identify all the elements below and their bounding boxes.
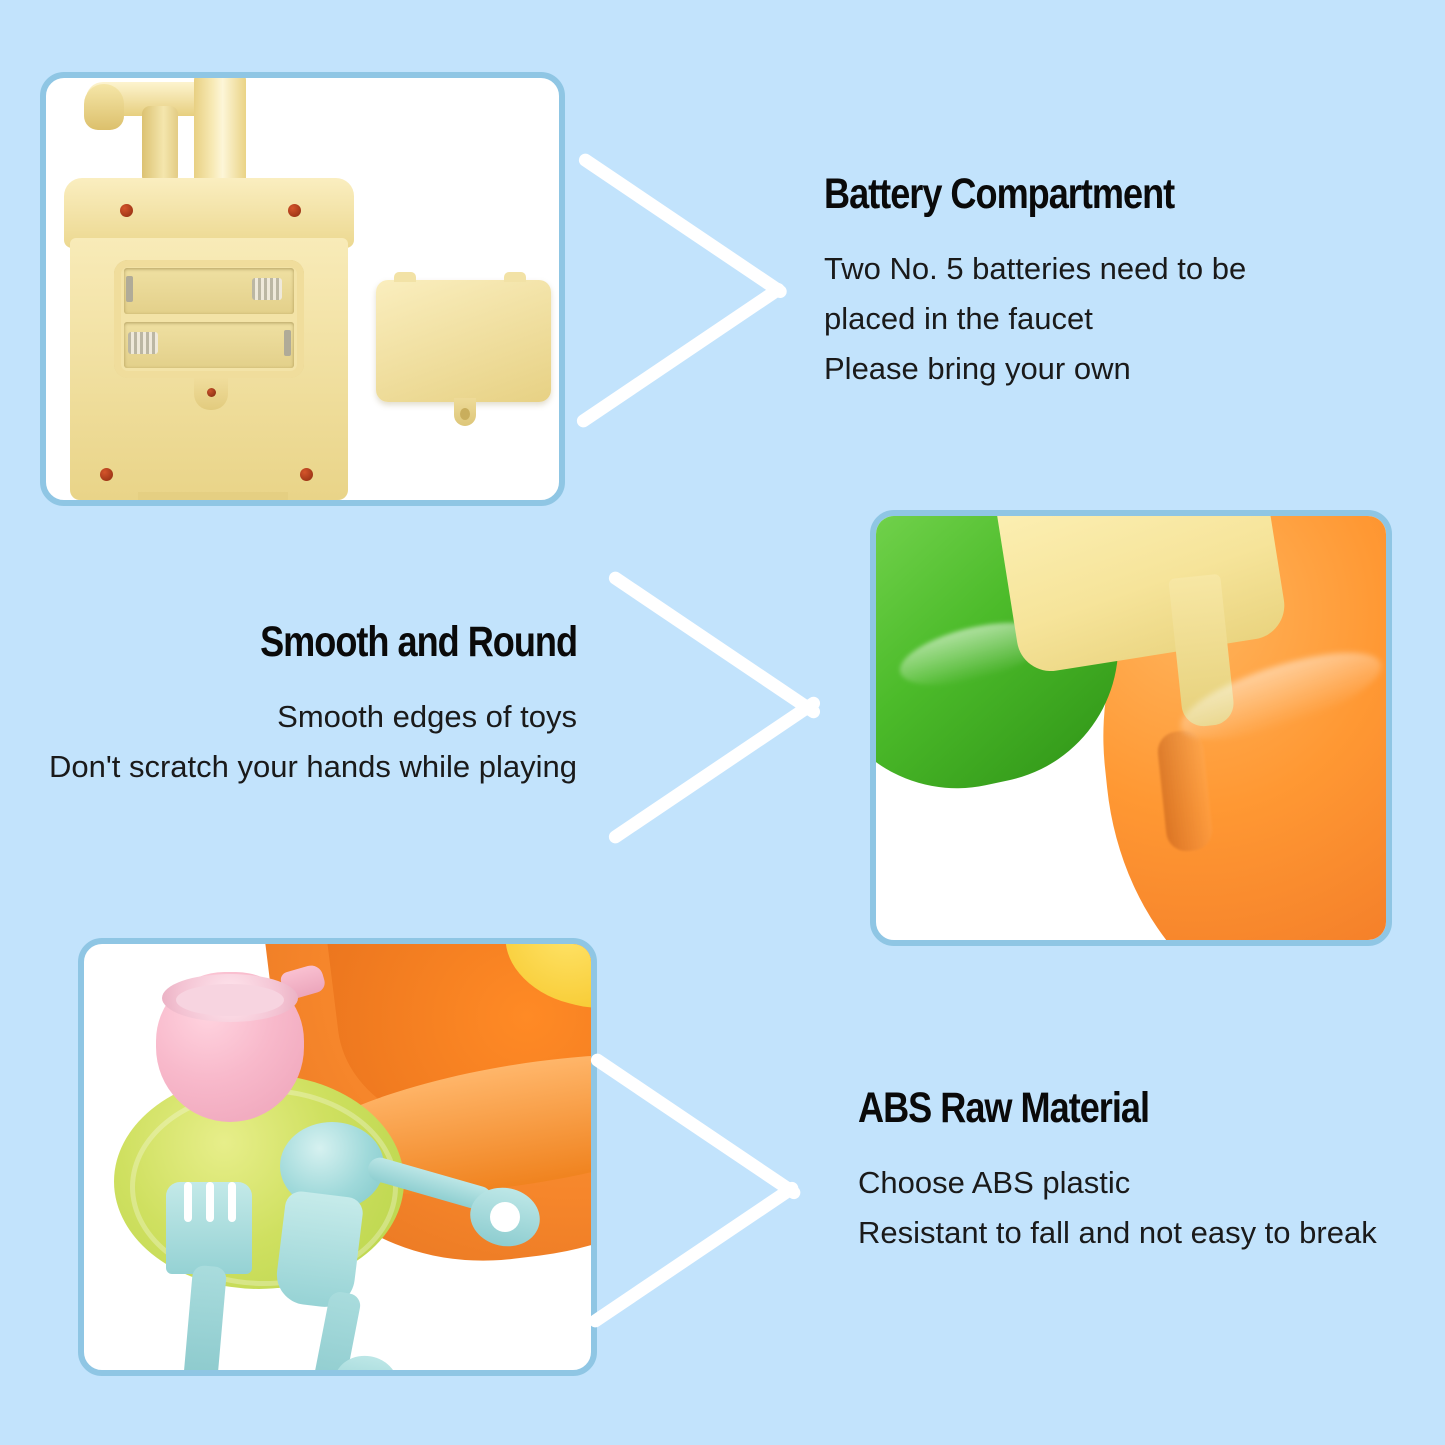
feature-line: Don't scratch your hands while playing	[49, 742, 577, 792]
feature-heading-smooth: Smooth and Round	[133, 620, 577, 666]
photo-panel-battery-compartment	[40, 72, 565, 506]
screw-icon	[120, 204, 133, 217]
chevron-stroke-lower	[574, 280, 787, 429]
chevron-left-icon-smooth	[620, 566, 850, 846]
infographic-canvas: Battery Compartment Two No. 5 batteries …	[0, 0, 1445, 1445]
battery-spring-shape	[128, 332, 158, 354]
feature-text-abs-raw-material: ABS Raw Material Choose ABS plastic Resi…	[858, 1086, 1377, 1258]
battery-compartment-illustration	[46, 78, 559, 500]
fork-head-shape	[166, 1182, 252, 1274]
battery-latch-shape	[194, 378, 228, 410]
pink-cup-interior-shape	[176, 984, 284, 1016]
chevron-right-icon-abs	[600, 1050, 830, 1330]
faucet-pipe-shape	[194, 78, 246, 194]
feature-text-smooth-and-round: Smooth and Round Smooth edges of toys Do…	[49, 620, 577, 792]
cover-tab-shape	[394, 272, 416, 282]
screw-icon	[100, 468, 113, 481]
battery-contact-shape	[284, 330, 291, 356]
screw-icon	[300, 468, 313, 481]
fork-gap-shape	[184, 1182, 192, 1222]
fork-handle-shape	[183, 1265, 227, 1370]
faucet-spout-shape	[84, 84, 124, 130]
chevron-stroke-lower	[606, 694, 822, 846]
battery-spring-shape	[252, 278, 282, 300]
chevron-right-icon-battery	[588, 150, 808, 430]
chevron-stroke-upper	[588, 1051, 803, 1202]
feature-heading-battery: Battery Compartment	[824, 172, 1179, 218]
battery-contact-shape	[126, 276, 133, 302]
fork-gap-shape	[206, 1182, 214, 1222]
feature-line: Choose ABS plastic	[858, 1158, 1377, 1208]
smooth-edges-illustration	[876, 516, 1386, 940]
abs-tableware-illustration	[84, 944, 591, 1370]
feature-line: Please bring your own	[824, 344, 1246, 394]
faucet-neck-shape	[142, 106, 178, 184]
photo-panel-abs-tableware	[78, 938, 597, 1376]
feature-heading-abs: ABS Raw Material	[858, 1086, 1294, 1132]
faucet-body-foot-shape	[138, 492, 288, 500]
cover-tab-shape	[504, 272, 526, 282]
cover-stem-shape	[454, 398, 476, 426]
chevron-stroke-upper	[606, 569, 822, 721]
chevron-stroke-lower	[586, 1179, 801, 1330]
chevron-stroke-upper	[576, 151, 789, 300]
feature-line: placed in the faucet	[824, 294, 1246, 344]
ladle-hole-shape	[490, 1202, 520, 1232]
feature-text-battery-compartment: Battery Compartment Two No. 5 batteries …	[824, 172, 1246, 394]
screw-icon	[288, 204, 301, 217]
photo-panel-smooth-edges	[870, 510, 1392, 946]
feature-line: Smooth edges of toys	[49, 692, 577, 742]
feature-line: Resistant to fall and not easy to break	[858, 1208, 1377, 1258]
spatula-head-shape	[273, 1190, 364, 1311]
fork-gap-shape	[228, 1182, 236, 1222]
battery-cover-shape	[376, 280, 551, 402]
feature-line: Two No. 5 batteries need to be	[824, 244, 1246, 294]
